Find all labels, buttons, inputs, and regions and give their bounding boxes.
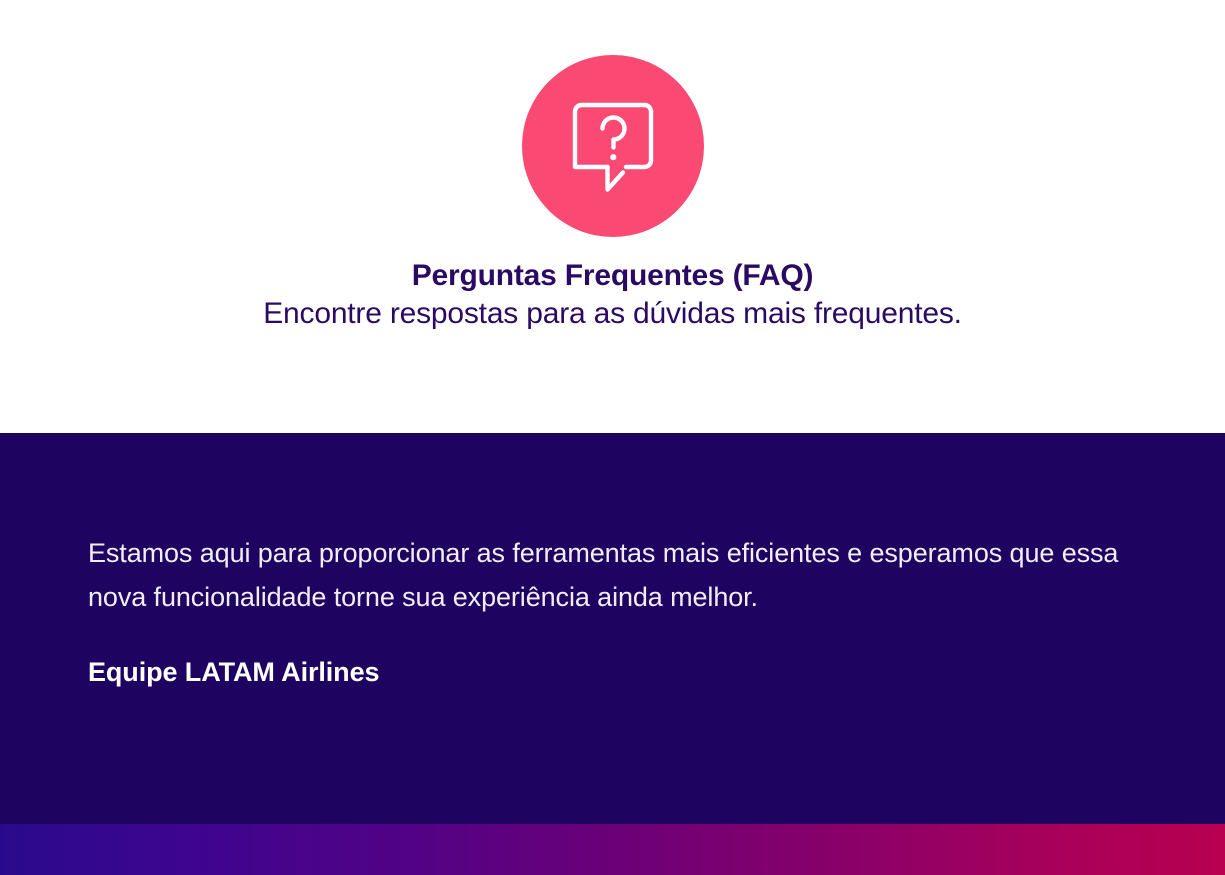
faq-page: Perguntas Frequentes (FAQ) Encontre resp… [0, 0, 1225, 875]
page-title: Perguntas Frequentes (FAQ) [263, 257, 962, 295]
faq-speech-bubble-question-icon [561, 94, 665, 198]
message-section: Estamos aqui para proporcionar as ferram… [0, 433, 1225, 824]
faq-badge [522, 55, 704, 237]
message-signature: Equipe LATAM Airlines [88, 656, 1137, 688]
message-body-text: Estamos aqui para proporcionar as ferram… [88, 531, 1137, 619]
footer-gradient-bar [0, 824, 1225, 875]
hero-section: Perguntas Frequentes (FAQ) Encontre resp… [0, 0, 1225, 433]
hero-text-block: Perguntas Frequentes (FAQ) Encontre resp… [263, 257, 962, 334]
page-subtitle: Encontre respostas para as dúvidas mais … [263, 295, 962, 333]
